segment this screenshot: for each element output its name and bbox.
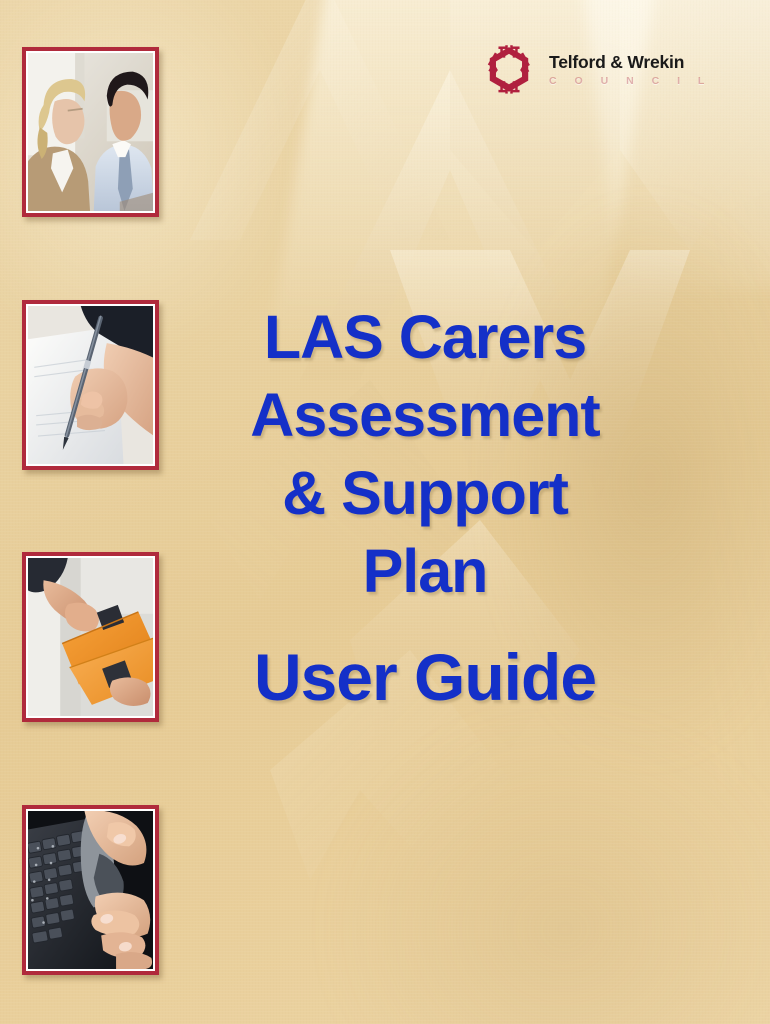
photo-artwork bbox=[28, 811, 153, 969]
title-line-4: Plan bbox=[170, 532, 680, 610]
title-line-1: LAS Carers bbox=[170, 298, 680, 376]
photo-frame-inner bbox=[26, 556, 155, 718]
photo-frame-inner bbox=[26, 809, 155, 971]
photo-artwork bbox=[28, 558, 153, 716]
subtitle-line-1: User Guide bbox=[170, 636, 680, 718]
title-line-2: Assessment bbox=[170, 376, 680, 454]
council-name: Telford & Wrekin bbox=[549, 53, 712, 71]
photo-artwork bbox=[28, 53, 153, 211]
photo-orange-folder bbox=[22, 552, 159, 722]
telford-wrekin-hexagon-icon bbox=[478, 44, 540, 106]
cover-subtitle: User Guide bbox=[170, 636, 680, 718]
document-cover-page: Telford & Wrekin C O U N C I L bbox=[0, 0, 770, 1024]
photo-typing-keyboard bbox=[22, 805, 159, 975]
title-line-3: & Support bbox=[170, 454, 680, 532]
photo-meeting-conversation bbox=[22, 47, 159, 217]
council-logo: Telford & Wrekin C O U N C I L bbox=[478, 44, 693, 108]
council-sublabel: C O U N C I L bbox=[549, 75, 712, 87]
photo-frame-inner bbox=[26, 51, 155, 213]
council-logo-text: Telford & Wrekin C O U N C I L bbox=[549, 44, 712, 87]
photo-signing-document bbox=[22, 300, 159, 470]
photo-frame-inner bbox=[26, 304, 155, 466]
photo-artwork bbox=[28, 306, 153, 464]
cover-title: LAS Carers Assessment & Support Plan bbox=[170, 298, 680, 610]
